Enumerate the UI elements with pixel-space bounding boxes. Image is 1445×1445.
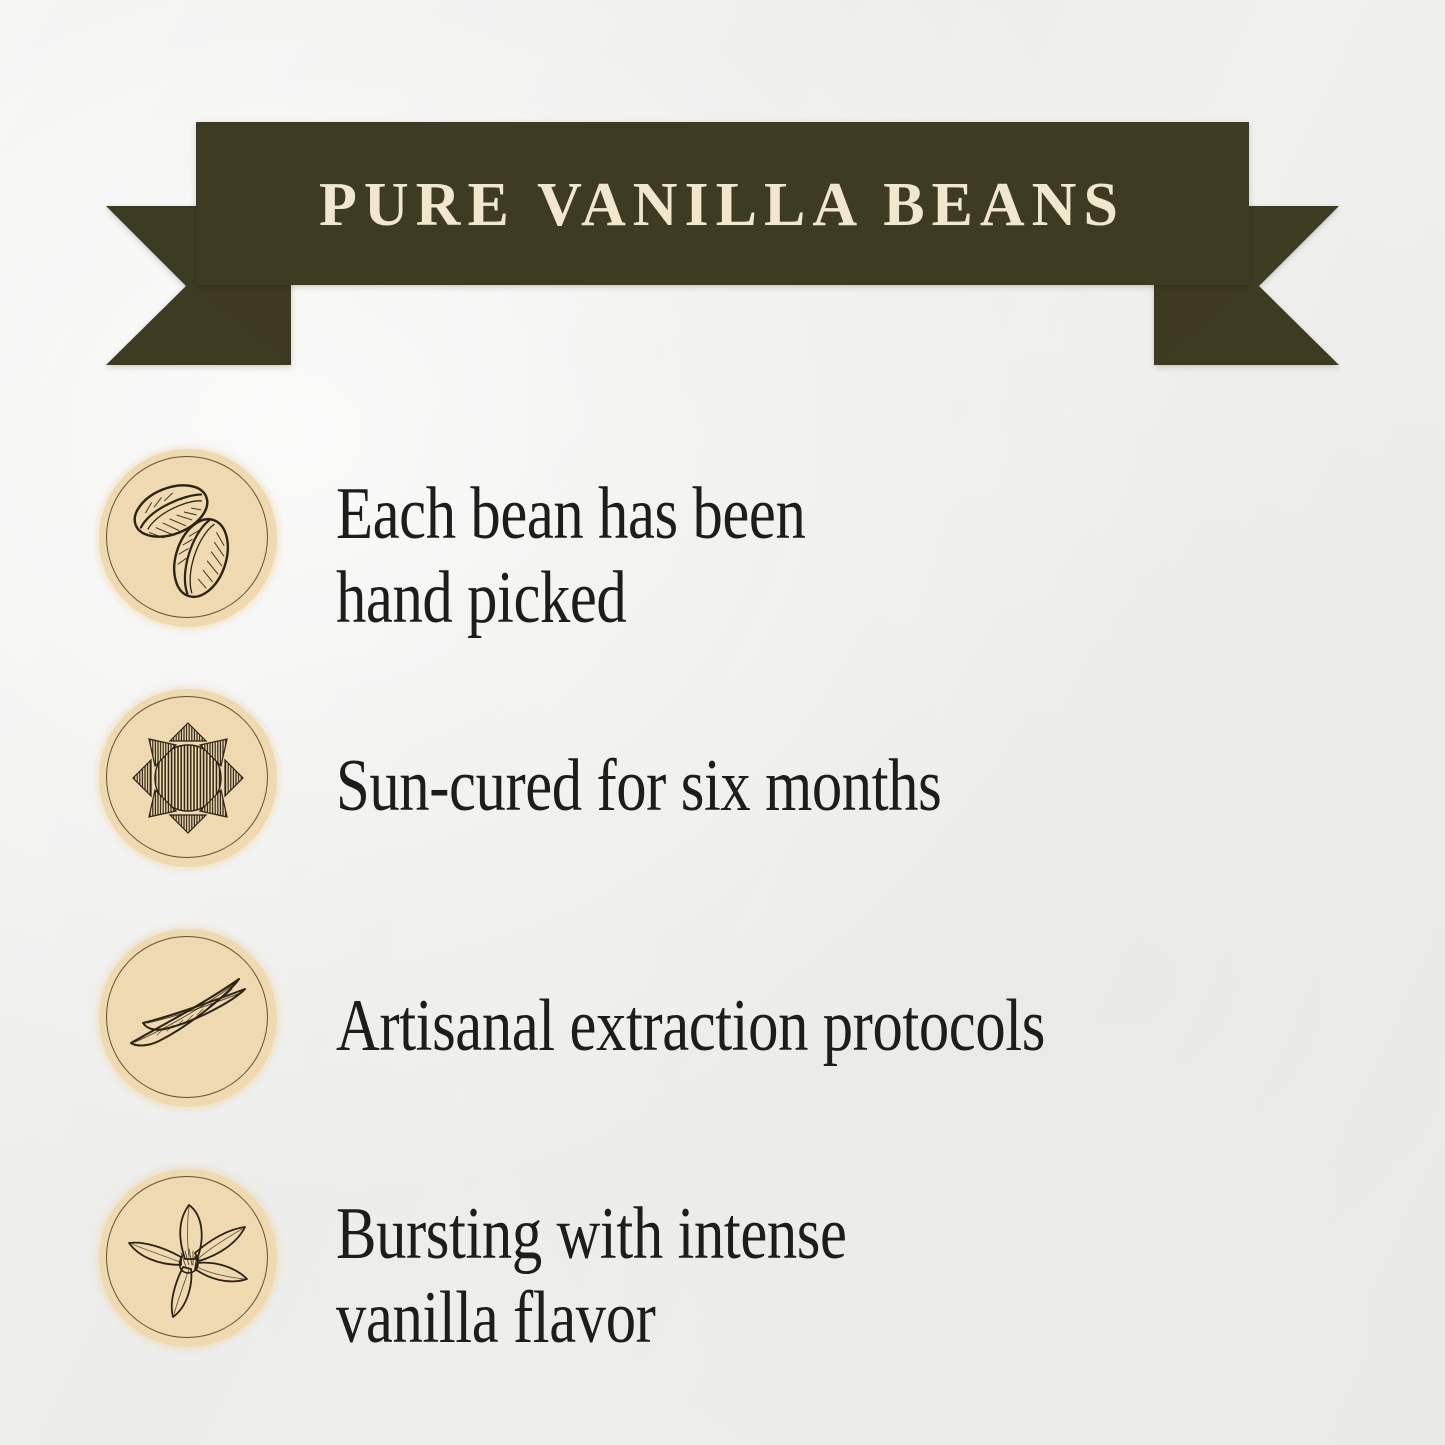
- sun-glyph: [113, 703, 263, 853]
- feature-text: Sun-cured for six months: [336, 744, 1213, 828]
- vanilla-pods-glyph: [113, 943, 263, 1093]
- feature-text: Each bean has been hand picked: [336, 472, 1213, 641]
- banner: PURE VANILLA BEANS: [0, 0, 1445, 400]
- page-title: PURE VANILLA BEANS: [319, 171, 1125, 239]
- feature-row: Each bean has been hand picked: [0, 438, 1445, 638]
- vanilla-pods-icon: [99, 929, 277, 1107]
- feature-row: Sun-cured for six months: [0, 678, 1445, 878]
- banner-ribbon-graphic: PURE VANILLA BEANS: [0, 0, 1445, 400]
- vanilla-flower-glyph: [113, 1183, 263, 1333]
- coffee-beans-icon: [99, 449, 277, 627]
- coffee-beans-glyph: [113, 463, 263, 613]
- feature-row: Bursting with intense vanilla flavor: [0, 1158, 1445, 1358]
- feature-row: Artisanal extraction protocols: [0, 918, 1445, 1118]
- sun-icon: [99, 689, 277, 867]
- vanilla-flower-icon: [99, 1169, 277, 1347]
- feature-text: Artisanal extraction protocols: [336, 984, 1213, 1068]
- feature-text: Bursting with intense vanilla flavor: [336, 1192, 1213, 1361]
